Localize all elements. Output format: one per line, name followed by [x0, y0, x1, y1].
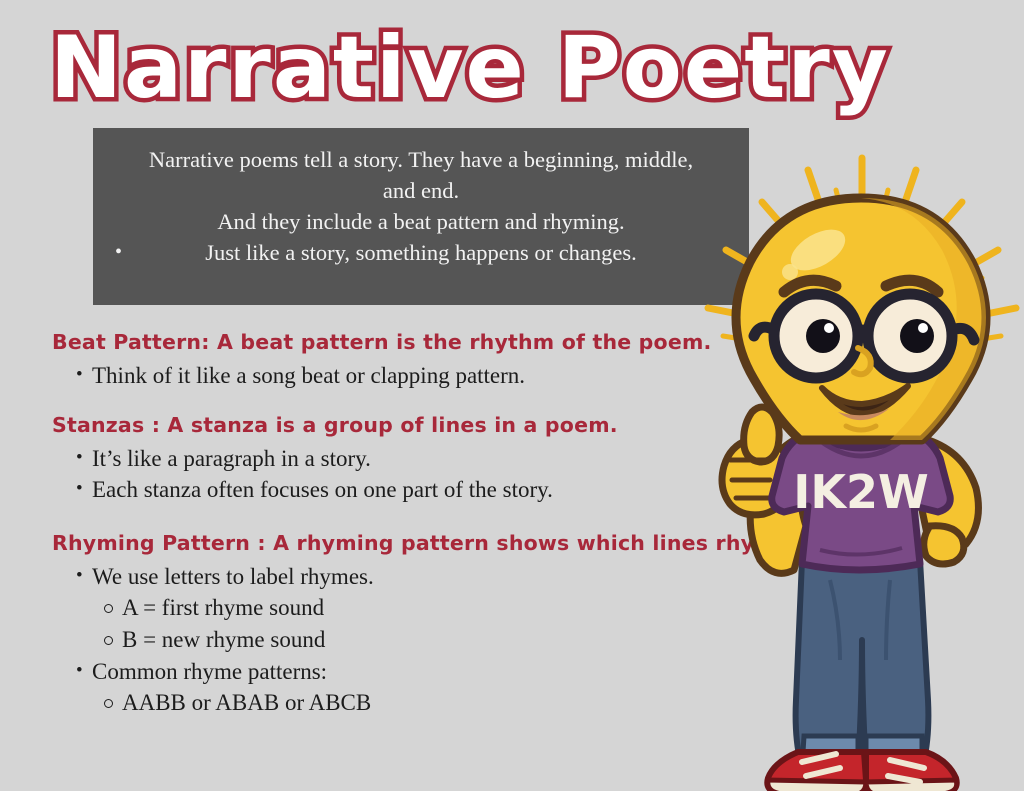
list-item-text: Think of it like a song beat or clapping… [92, 363, 525, 388]
bullet-list-stanzas: • It’s like a paragraph in a story. • Ea… [52, 443, 772, 505]
hollow-bullet-icon [104, 699, 113, 708]
list-item-text: Each stanza often focuses on one part of… [92, 477, 553, 502]
list-item: • It’s like a paragraph in a story. [52, 443, 772, 474]
list-item: A = first rhyme sound [52, 592, 772, 624]
intro-line: Narrative poems tell a story. They have … [93, 144, 749, 175]
intro-lines: Narrative poems tell a story. They have … [93, 144, 749, 268]
list-item-text: Common rhyme patterns: [92, 659, 327, 684]
sub-bullet-list-rhyme-letters: A = first rhyme sound B = new rhyme soun… [52, 592, 772, 656]
jeans [796, 560, 929, 768]
bullet-icon: • [76, 359, 83, 390]
lightbulb-head [736, 198, 986, 440]
intro-line-text: Just like a story, something happens or … [205, 240, 637, 265]
list-item: AABB or ABAB or ABCB [52, 687, 772, 719]
intro-text-box: Narrative poems tell a story. They have … [93, 128, 749, 305]
section-heading-beat-pattern: Beat Pattern: A beat pattern is the rhyt… [52, 330, 772, 354]
list-item-text: A = first rhyme sound [122, 595, 324, 620]
list-item-text: We use letters to label rhymes. [92, 564, 374, 589]
bullet-list-rhyming-pattern: • We use letters to label rhymes. [52, 561, 772, 592]
list-item: B = new rhyme sound [52, 624, 772, 656]
list-item: • We use letters to label rhymes. [52, 561, 772, 592]
list-item: • Think of it like a song beat or clappi… [52, 360, 772, 391]
bullet-icon: • [76, 442, 83, 473]
hollow-bullet-icon [104, 636, 113, 645]
bullet-list-common-patterns: • Common rhyme patterns: [52, 656, 772, 687]
list-item-text: B = new rhyme sound [122, 627, 325, 652]
section-stanzas: Stanzas : A stanza is a group of lines i… [52, 413, 772, 505]
intro-line-bulleted: • Just like a story, something happens o… [93, 237, 749, 268]
list-item: • Each stanza often focuses on one part … [52, 474, 772, 505]
shirt-logo-text: IK2W [793, 465, 929, 519]
sub-bullet-list-pattern-examples: AABB or ABAB or ABCB [52, 687, 772, 719]
content-column: Beat Pattern: A beat pattern is the rhyt… [52, 330, 772, 737]
page-title: Narrative Poetry [50, 18, 870, 118]
hollow-bullet-icon [104, 604, 113, 613]
sneakers [767, 752, 956, 791]
bullet-icon: • [76, 655, 83, 686]
list-item: • Common rhyme patterns: [52, 656, 772, 687]
bullet-icon: • [76, 560, 83, 591]
intro-line: and end. [93, 175, 749, 206]
bullet-icon: • [115, 237, 122, 268]
list-item-text: AABB or ABAB or ABCB [122, 690, 371, 715]
lightbulb-mascot: IK2W [690, 140, 1024, 791]
list-item-text: It’s like a paragraph in a story. [92, 446, 371, 471]
bullet-list-beat-pattern: • Think of it like a song beat or clappi… [52, 360, 772, 391]
section-heading-rhyming-pattern: Rhyming Pattern : A rhyming pattern show… [52, 531, 772, 555]
poster-canvas: Narrative Poetry Narrative poems tell a … [0, 0, 1024, 791]
section-rhyming-pattern: Rhyming Pattern : A rhyming pattern show… [52, 531, 772, 719]
section-beat-pattern: Beat Pattern: A beat pattern is the rhyt… [52, 330, 772, 391]
section-heading-stanzas: Stanzas : A stanza is a group of lines i… [52, 413, 772, 437]
intro-line: And they include a beat pattern and rhym… [93, 206, 749, 237]
bullet-icon: • [76, 473, 83, 504]
